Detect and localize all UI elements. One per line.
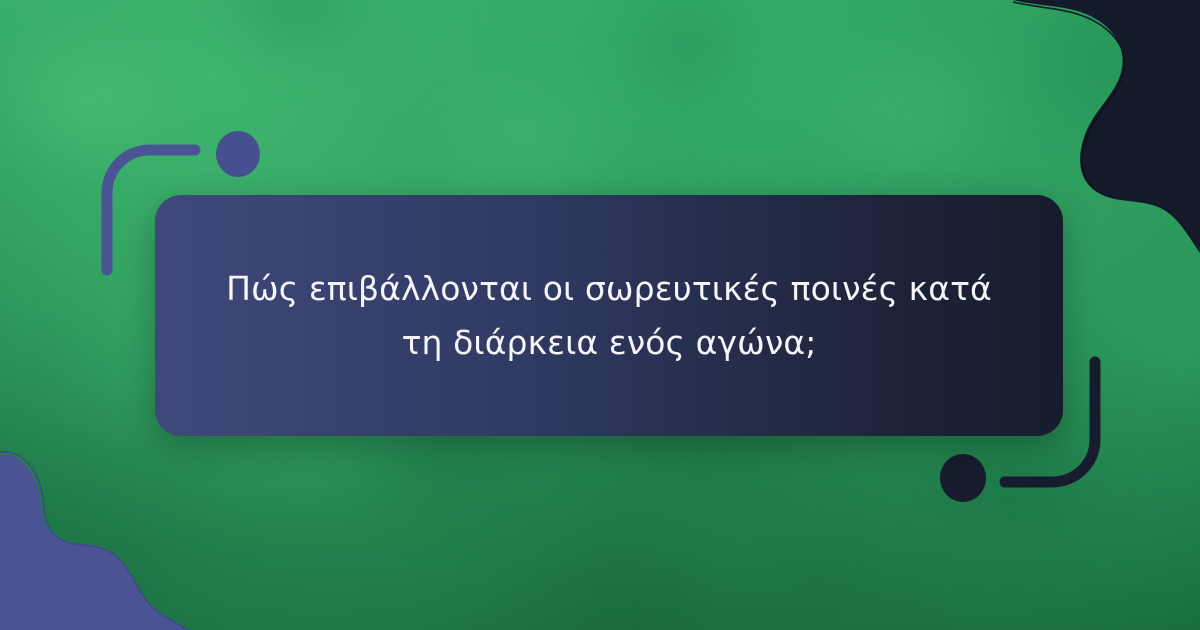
share-card-canvas: Πώς επιβάλλονται οι σωρευτικές ποινές κα…: [0, 0, 1200, 630]
quote-card: Πώς επιβάλλονται οι σωρευτικές ποινές κα…: [155, 195, 1063, 436]
quote-text: Πώς επιβάλλονται οι σωρευτικές ποινές κα…: [214, 262, 1004, 369]
